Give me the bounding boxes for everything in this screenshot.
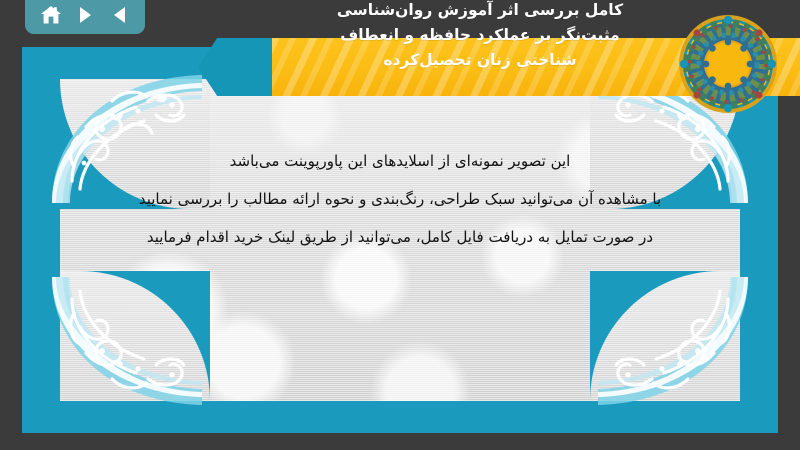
next-slide-button[interactable]: [71, 3, 99, 27]
slide-viewer-window: این تصویر نمونه‌ای از اسلایدهای این پاور…: [0, 0, 800, 450]
body-line-3: در صورت تمایل به دریافت فایل کامل، می‌تو…: [82, 218, 718, 256]
slide-body-text: این تصویر نمونه‌ای از اسلایدهای این پاور…: [82, 142, 718, 256]
panel-corner-arc-bottom-right: [590, 271, 740, 401]
body-line-1: این تصویر نمونه‌ای از اسلایدهای این پاور…: [82, 142, 718, 180]
triangle-left-icon: [111, 6, 128, 24]
panel-corner-arc-bottom-left: [60, 271, 210, 401]
home-icon: [40, 5, 62, 25]
slide-navigation-bar: [25, 0, 145, 34]
title-line-1: کامل بررسی اثر آموزش روان‌شناسی: [300, 0, 660, 23]
mandala-medallion: [678, 14, 778, 114]
triangle-right-icon: [77, 6, 94, 24]
body-line-2: با مشاهده آن می‌توانید سبک طراحی، رنگ‌بن…: [82, 180, 718, 218]
home-button[interactable]: [37, 3, 65, 27]
previous-slide-button[interactable]: [105, 3, 133, 27]
slide-canvas: این تصویر نمونه‌ای از اسلایدهای این پاور…: [22, 47, 778, 433]
